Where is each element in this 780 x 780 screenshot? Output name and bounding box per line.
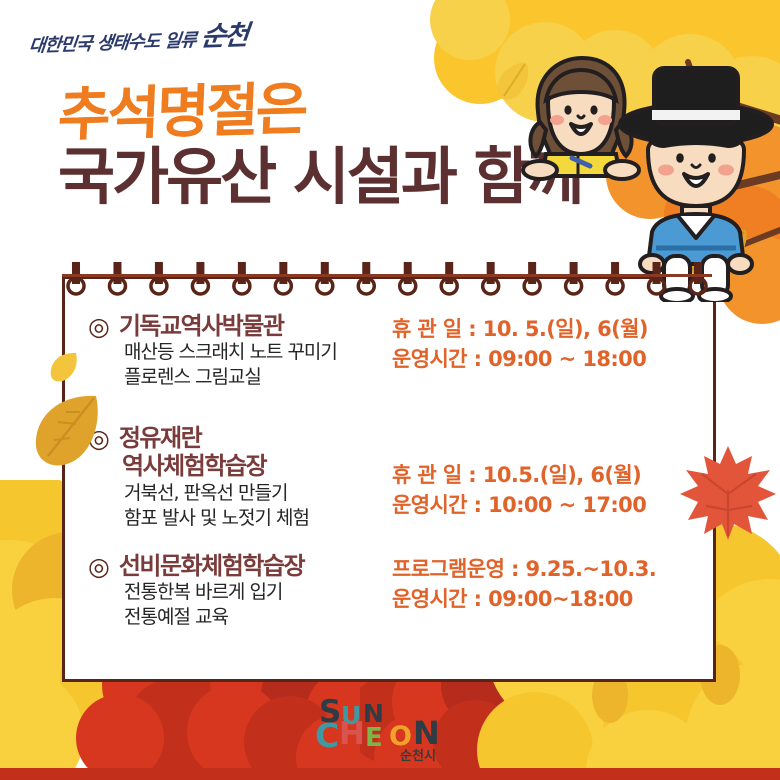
city-slogan: 대한민국 생태수도 일류 (28, 29, 197, 56)
logo-letter-O: O (389, 723, 412, 750)
program-item: 거북선, 판옥선 만들기 (88, 481, 392, 506)
entry-left-column: ◎ 기독교역사박물관 매산등 스크래치 노트 꾸미기 플로렌스 그림교실 (62, 312, 392, 390)
entry-left-column: ◎ 정유재란 역사체험학습장 거북선, 판옥선 만들기 함포 발사 및 노젓기 … (62, 424, 392, 531)
venue-title-line2: 역사체험학습장 (88, 452, 392, 480)
venue-title: 정유재란 (119, 424, 201, 452)
spiral-binding-icon (62, 262, 712, 298)
venue-title: 기독교역사박물관 (119, 312, 284, 340)
headline-line-1: 추석명절은 (57, 73, 583, 147)
logo-letter-E: E (365, 725, 383, 751)
city-name-calligraphy: 순천 (199, 20, 248, 53)
closed-days-info: 휴 관 일 : 10. 5.(일), 6(월) (392, 314, 710, 344)
entry-right-column: 프로그램운영 : 9.25.~10.3. 운영시간 : 09:00~18:00 (392, 552, 710, 630)
entry-left-column: ◎ 선비문화체험학습장 전통한복 바르게 입기 전통예절 교육 (62, 552, 392, 630)
program-item: 함포 발사 및 노젓기 체험 (88, 506, 392, 531)
venue-title: 선비문화체험학습장 (119, 552, 304, 580)
headline-line-2: 국가유산 시설과 함께 (58, 144, 582, 209)
program-item: 매산등 스크래치 노트 꾸미기 (88, 340, 392, 365)
page-title: 추석명절은 국가유산 시설과 함께 (58, 80, 582, 209)
operating-hours-info: 운영시간 : 10:00 ~ 17:00 (392, 490, 710, 520)
program-item: 전통예절 교육 (88, 605, 392, 630)
closed-days-info: 휴 관 일 : 10.5.(일), 6(월) (392, 460, 710, 490)
bullet-icon: ◎ (88, 554, 110, 579)
poster-root: 대한민국 생태수도 일류순천 추석명절은 국가유산 시설과 함께 (0, 0, 780, 780)
entry-right-column: 휴 관 일 : 10. 5.(일), 6(월) 운영시간 : 09:00 ~ 1… (392, 312, 710, 390)
program-period-info: 프로그램운영 : 9.25.~10.3. (392, 554, 710, 584)
operating-hours-info: 운영시간 : 09:00 ~ 18:00 (392, 344, 710, 374)
program-item: 플로렌스 그림교실 (88, 365, 392, 390)
program-list: ◎ 기독교역사박물관 매산등 스크래치 노트 꾸미기 플로렌스 그림교실 휴 관… (62, 276, 710, 676)
logo-letter-C: C (315, 719, 339, 752)
list-item[interactable]: ◎ 기독교역사박물관 매산등 스크래치 노트 꾸미기 플로렌스 그림교실 휴 관… (62, 312, 710, 390)
operating-hours-info: 운영시간 : 09:00~18:00 (392, 584, 710, 614)
list-item[interactable]: ◎ 정유재란 역사체험학습장 거북선, 판옥선 만들기 함포 발사 및 노젓기 … (62, 424, 710, 531)
city-brand-logo-top: 대한민국 생태수도 일류순천 (30, 14, 270, 58)
list-item[interactable]: ◎ 선비문화체험학습장 전통한복 바르게 입기 전통예절 교육 프로그램운영 :… (62, 552, 710, 630)
logo-letter-N2: N (413, 717, 440, 749)
city-brand-logo-bottom: S U N C H E O N 순천시 (0, 695, 780, 764)
program-item: 전통한복 바르게 입기 (88, 580, 392, 605)
logo-letter-H: H (339, 719, 365, 750)
entry-right-column: 휴 관 일 : 10.5.(일), 6(월) 운영시간 : 10:00 ~ 17… (392, 424, 710, 531)
bullet-icon: ◎ (88, 426, 110, 451)
suncheon-wordmark-icon: S U N C H E O N (315, 695, 465, 751)
bullet-icon: ◎ (88, 314, 110, 339)
